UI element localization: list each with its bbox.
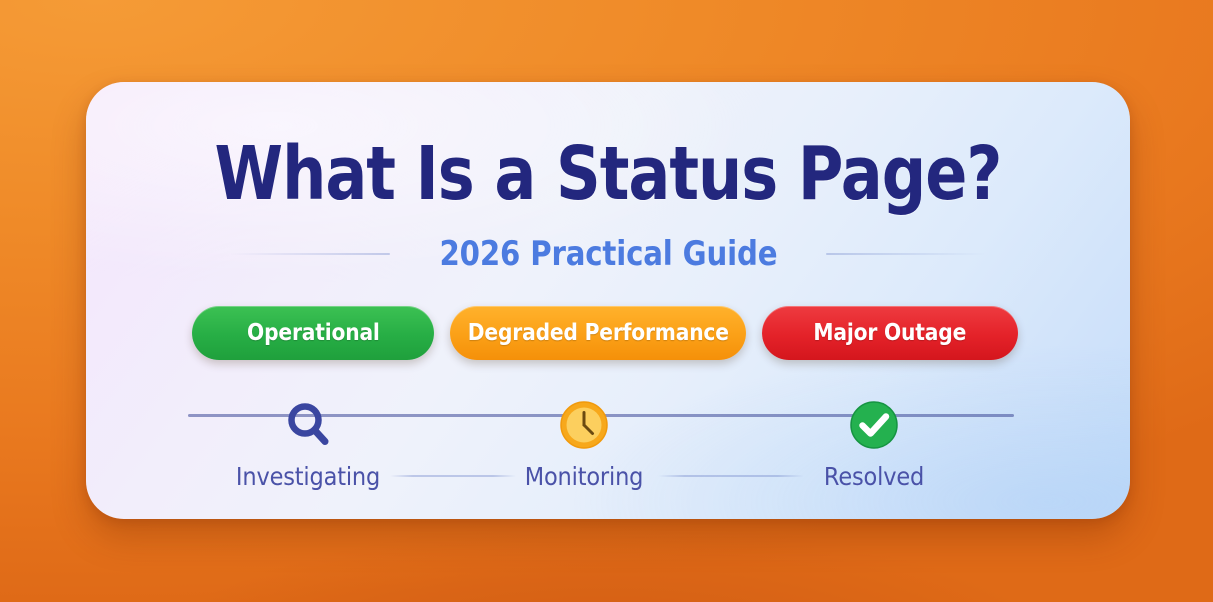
status-pill-major-outage[interactable]: Major Outage: [762, 306, 1018, 360]
timeline-label-resolved: Resolved: [818, 462, 929, 491]
subtitle-rule-left: [230, 253, 390, 255]
check-circle-icon: [846, 397, 902, 453]
timeline-label-investigating: Investigating: [228, 462, 388, 491]
page-title: What Is a Status Page?: [170, 137, 1047, 211]
incident-timeline: Investigating Monitoring Resolved: [188, 397, 1014, 507]
status-pill-group: Operational Degraded Performance Major O…: [192, 306, 1018, 360]
status-pill-operational-label: Operational: [247, 320, 380, 346]
timeline-label-rule-2: [658, 475, 804, 477]
status-pill-degraded-performance[interactable]: Degraded Performance: [450, 306, 746, 360]
page-subtitle: 2026 Practical Guide: [439, 234, 777, 274]
subtitle-rule-right: [826, 253, 986, 255]
timeline-node-investigating[interactable]: [280, 397, 336, 453]
timeline-label-row: Investigating Monitoring Resolved: [188, 459, 1014, 493]
info-card: What Is a Status Page? 2026 Practical Gu…: [86, 82, 1130, 519]
timeline-label-monitoring: Monitoring: [518, 462, 650, 491]
status-pill-degraded-performance-label: Degraded Performance: [467, 320, 728, 346]
timeline-label-investigating-text: Investigating: [236, 462, 380, 491]
timeline-node-resolved[interactable]: [846, 397, 902, 453]
clock-icon: [556, 397, 612, 453]
timeline-label-rule-1: [390, 475, 516, 477]
magnifier-icon: [280, 397, 336, 453]
subtitle-row: 2026 Practical Guide: [86, 232, 1130, 276]
status-pill-major-outage-label: Major Outage: [814, 320, 967, 346]
timeline-label-resolved-text: Resolved: [824, 462, 924, 491]
timeline-label-monitoring-text: Monitoring: [525, 462, 644, 491]
status-pill-operational[interactable]: Operational: [192, 306, 434, 360]
timeline-node-monitoring[interactable]: [556, 397, 612, 453]
